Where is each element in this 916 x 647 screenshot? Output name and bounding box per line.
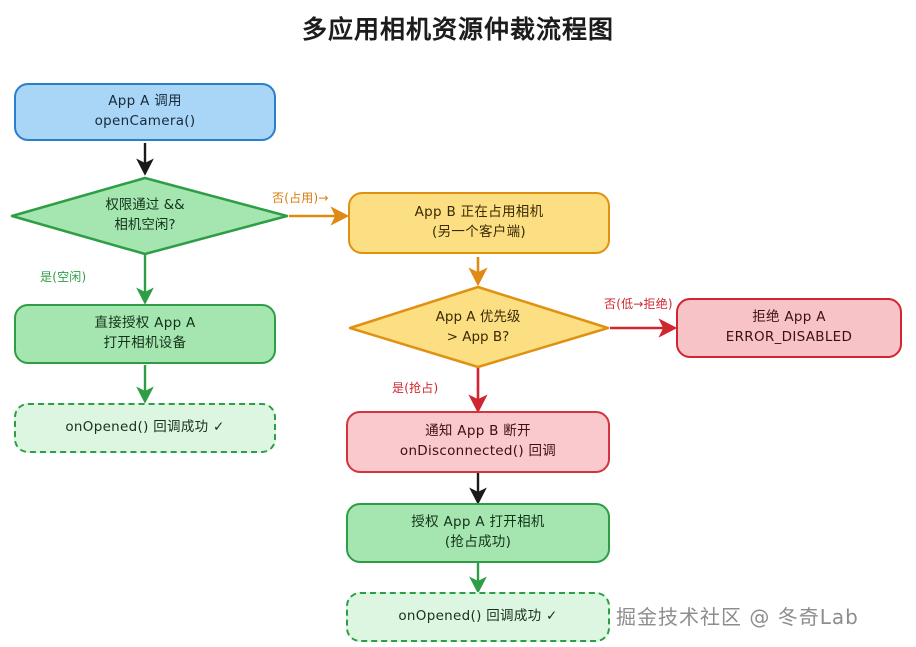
node-grant-preempt[interactable]: 授权 App A 打开相机 (抢占成功) <box>346 503 610 563</box>
node-start-line1: App A 调用 <box>108 92 182 112</box>
edge-label-no-low-reject: 否(低→拒绝) <box>604 295 673 312</box>
edge-label-yes-preempt: 是(抢占) <box>392 379 438 396</box>
node-grant-preempt-line1: 授权 App A 打开相机 <box>411 513 544 533</box>
node-opened-left[interactable]: onOpened() 回调成功 ✓ <box>14 403 276 453</box>
watermark: 掘金技术社区 @ 冬奇Lab <box>616 601 859 630</box>
node-notify-disconnect-line1: 通知 App B 断开 <box>425 422 531 442</box>
edge-label-yes-idle: 是(空闲) <box>40 268 86 285</box>
decision-priority-shape <box>350 287 608 367</box>
node-start-line2: openCamera() <box>95 112 196 132</box>
node-opened-right[interactable]: onOpened() 回调成功 ✓ <box>346 592 610 642</box>
node-opened-right-line1: onOpened() 回调成功 ✓ <box>398 607 557 627</box>
node-reject[interactable]: 拒绝 App A ERROR_DISABLED <box>676 298 902 358</box>
node-app-b-busy-line1: App B 正在占用相机 <box>415 203 544 223</box>
node-reject-line1: 拒绝 App A <box>752 308 826 328</box>
decision-permission-shape <box>12 178 287 254</box>
page-title: 多应用相机资源仲裁流程图 <box>0 10 916 46</box>
node-notify-disconnect[interactable]: 通知 App B 断开 onDisconnected() 回调 <box>346 411 610 473</box>
node-start[interactable]: App A 调用 openCamera() <box>14 83 276 141</box>
node-app-b-busy[interactable]: App B 正在占用相机 (另一个客户端) <box>348 192 610 254</box>
node-notify-disconnect-line2: onDisconnected() 回调 <box>400 442 556 462</box>
edge-label-no-busy: 否(占用)→ <box>272 189 329 206</box>
node-reject-line2: ERROR_DISABLED <box>726 328 852 348</box>
node-grant-preempt-line2: (抢占成功) <box>445 533 511 553</box>
node-grant-direct-line2: 打开相机设备 <box>104 334 187 354</box>
node-grant-direct[interactable]: 直接授权 App A 打开相机设备 <box>14 304 276 364</box>
node-opened-left-line1: onOpened() 回调成功 ✓ <box>65 418 224 438</box>
node-grant-direct-line1: 直接授权 App A <box>94 314 195 334</box>
node-app-b-busy-line2: (另一个客户端) <box>432 223 526 243</box>
